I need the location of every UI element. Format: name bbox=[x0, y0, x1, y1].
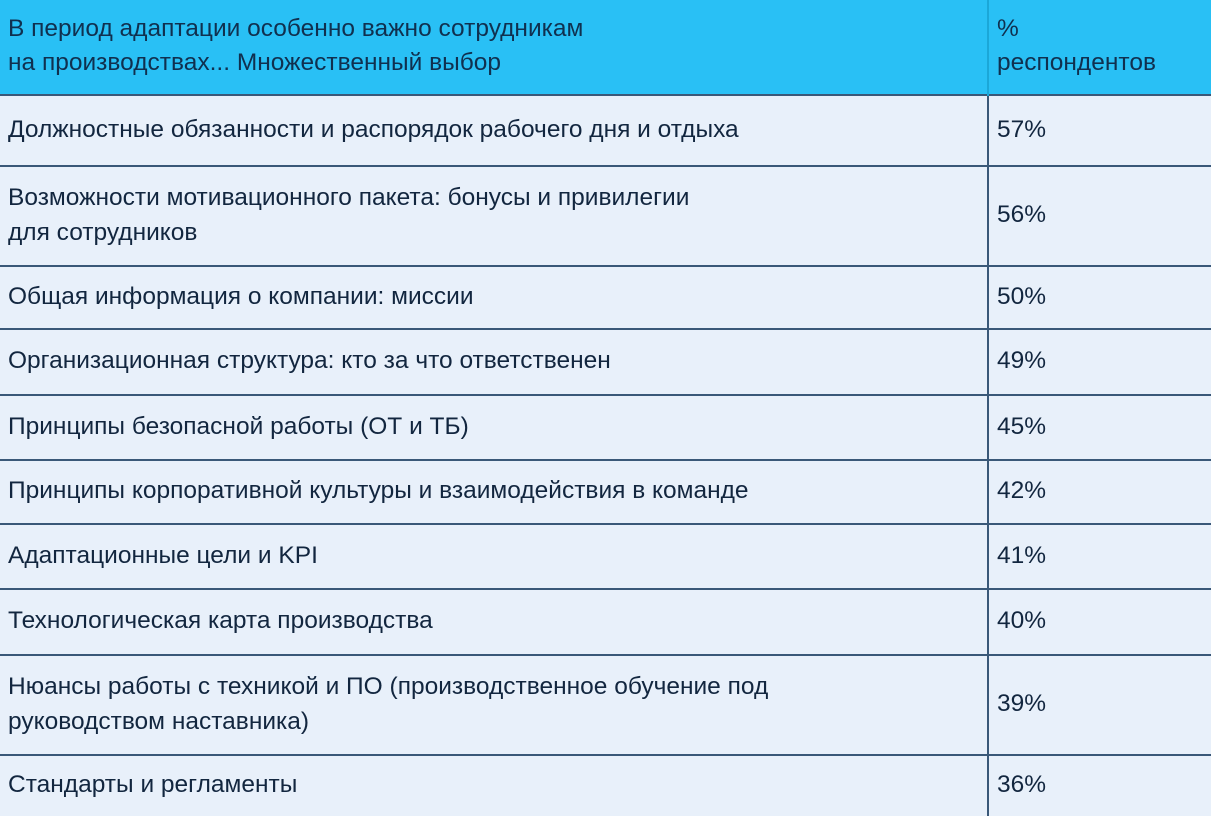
column-header-percent-line1: % bbox=[997, 12, 1201, 46]
column-header-question-line1: В период адаптации особенно важно сотруд… bbox=[8, 12, 977, 46]
cell-percent: 36% bbox=[988, 755, 1211, 816]
cell-question-line1: Принципы корпоративной культуры и взаимо… bbox=[8, 474, 977, 509]
cell-question-line1: Нюансы работы с техникой и ПО (производс… bbox=[8, 670, 977, 705]
cell-question-line1: Должностные обязанности и распорядок раб… bbox=[8, 113, 977, 148]
cell-question: Нюансы работы с техникой и ПО (производс… bbox=[0, 655, 988, 755]
table-row: Возможности мотивационного пакета: бонус… bbox=[0, 166, 1211, 266]
cell-question: Технологическая карта производства bbox=[0, 589, 988, 655]
table-row: Общая информация о компании: миссии 50% bbox=[0, 266, 1211, 329]
table-row: Адаптационные цели и KPI 41% bbox=[0, 524, 1211, 589]
cell-percent: 50% bbox=[988, 266, 1211, 329]
cell-question: Адаптационные цели и KPI bbox=[0, 524, 988, 589]
cell-question: Принципы корпоративной культуры и взаимо… bbox=[0, 460, 988, 524]
table-header-row: В период адаптации особенно важно сотруд… bbox=[0, 0, 1211, 95]
cell-percent: 49% bbox=[988, 329, 1211, 395]
cell-question-line1: Стандарты и регламенты bbox=[8, 768, 977, 803]
table-header: В период адаптации особенно важно сотруд… bbox=[0, 0, 1211, 95]
cell-question: Должностные обязанности и распорядок раб… bbox=[0, 95, 988, 166]
table-row: Стандарты и регламенты 36% bbox=[0, 755, 1211, 816]
table-row: Принципы корпоративной культуры и взаимо… bbox=[0, 460, 1211, 524]
column-header-percent-line2: респондентов bbox=[997, 46, 1201, 80]
cell-question: Стандарты и регламенты bbox=[0, 755, 988, 816]
table-row: Технологическая карта производства 40% bbox=[0, 589, 1211, 655]
cell-question-line1: Адаптационные цели и KPI bbox=[8, 539, 977, 574]
cell-percent: 45% bbox=[988, 395, 1211, 460]
cell-question-line1: Технологическая карта производства bbox=[8, 604, 977, 639]
table-body: Должностные обязанности и распорядок раб… bbox=[0, 95, 1211, 816]
cell-question: Возможности мотивационного пакета: бонус… bbox=[0, 166, 988, 266]
cell-question-line1: Общая информация о компании: миссии bbox=[8, 280, 977, 315]
cell-percent: 39% bbox=[988, 655, 1211, 755]
cell-question: Принципы безопасной работы (ОТ и ТБ) bbox=[0, 395, 988, 460]
cell-question-line1: Организационная структура: кто за что от… bbox=[8, 344, 977, 379]
cell-question-line1: Принципы безопасной работы (ОТ и ТБ) bbox=[8, 410, 977, 445]
table-row: Принципы безопасной работы (ОТ и ТБ) 45% bbox=[0, 395, 1211, 460]
cell-percent: 41% bbox=[988, 524, 1211, 589]
cell-percent: 56% bbox=[988, 166, 1211, 266]
table-row: Должностные обязанности и распорядок раб… bbox=[0, 95, 1211, 166]
cell-question: Общая информация о компании: миссии bbox=[0, 266, 988, 329]
cell-percent: 40% bbox=[988, 589, 1211, 655]
column-header-question: В период адаптации особенно важно сотруд… bbox=[0, 0, 988, 95]
cell-question: Организационная структура: кто за что от… bbox=[0, 329, 988, 395]
table-row: Организационная структура: кто за что от… bbox=[0, 329, 1211, 395]
table-row: Нюансы работы с техникой и ПО (производс… bbox=[0, 655, 1211, 755]
cell-question-line2: руководством наставника) bbox=[8, 705, 977, 740]
column-header-question-line2: на производствах... Множественный выбор bbox=[8, 46, 977, 80]
column-header-percent: % респондентов bbox=[988, 0, 1211, 95]
survey-results-table: В период адаптации особенно важно сотруд… bbox=[0, 0, 1211, 816]
cell-percent: 42% bbox=[988, 460, 1211, 524]
cell-percent: 57% bbox=[988, 95, 1211, 166]
cell-question-line2: для сотрудников bbox=[8, 216, 977, 251]
cell-question-line1: Возможности мотивационного пакета: бонус… bbox=[8, 181, 977, 216]
